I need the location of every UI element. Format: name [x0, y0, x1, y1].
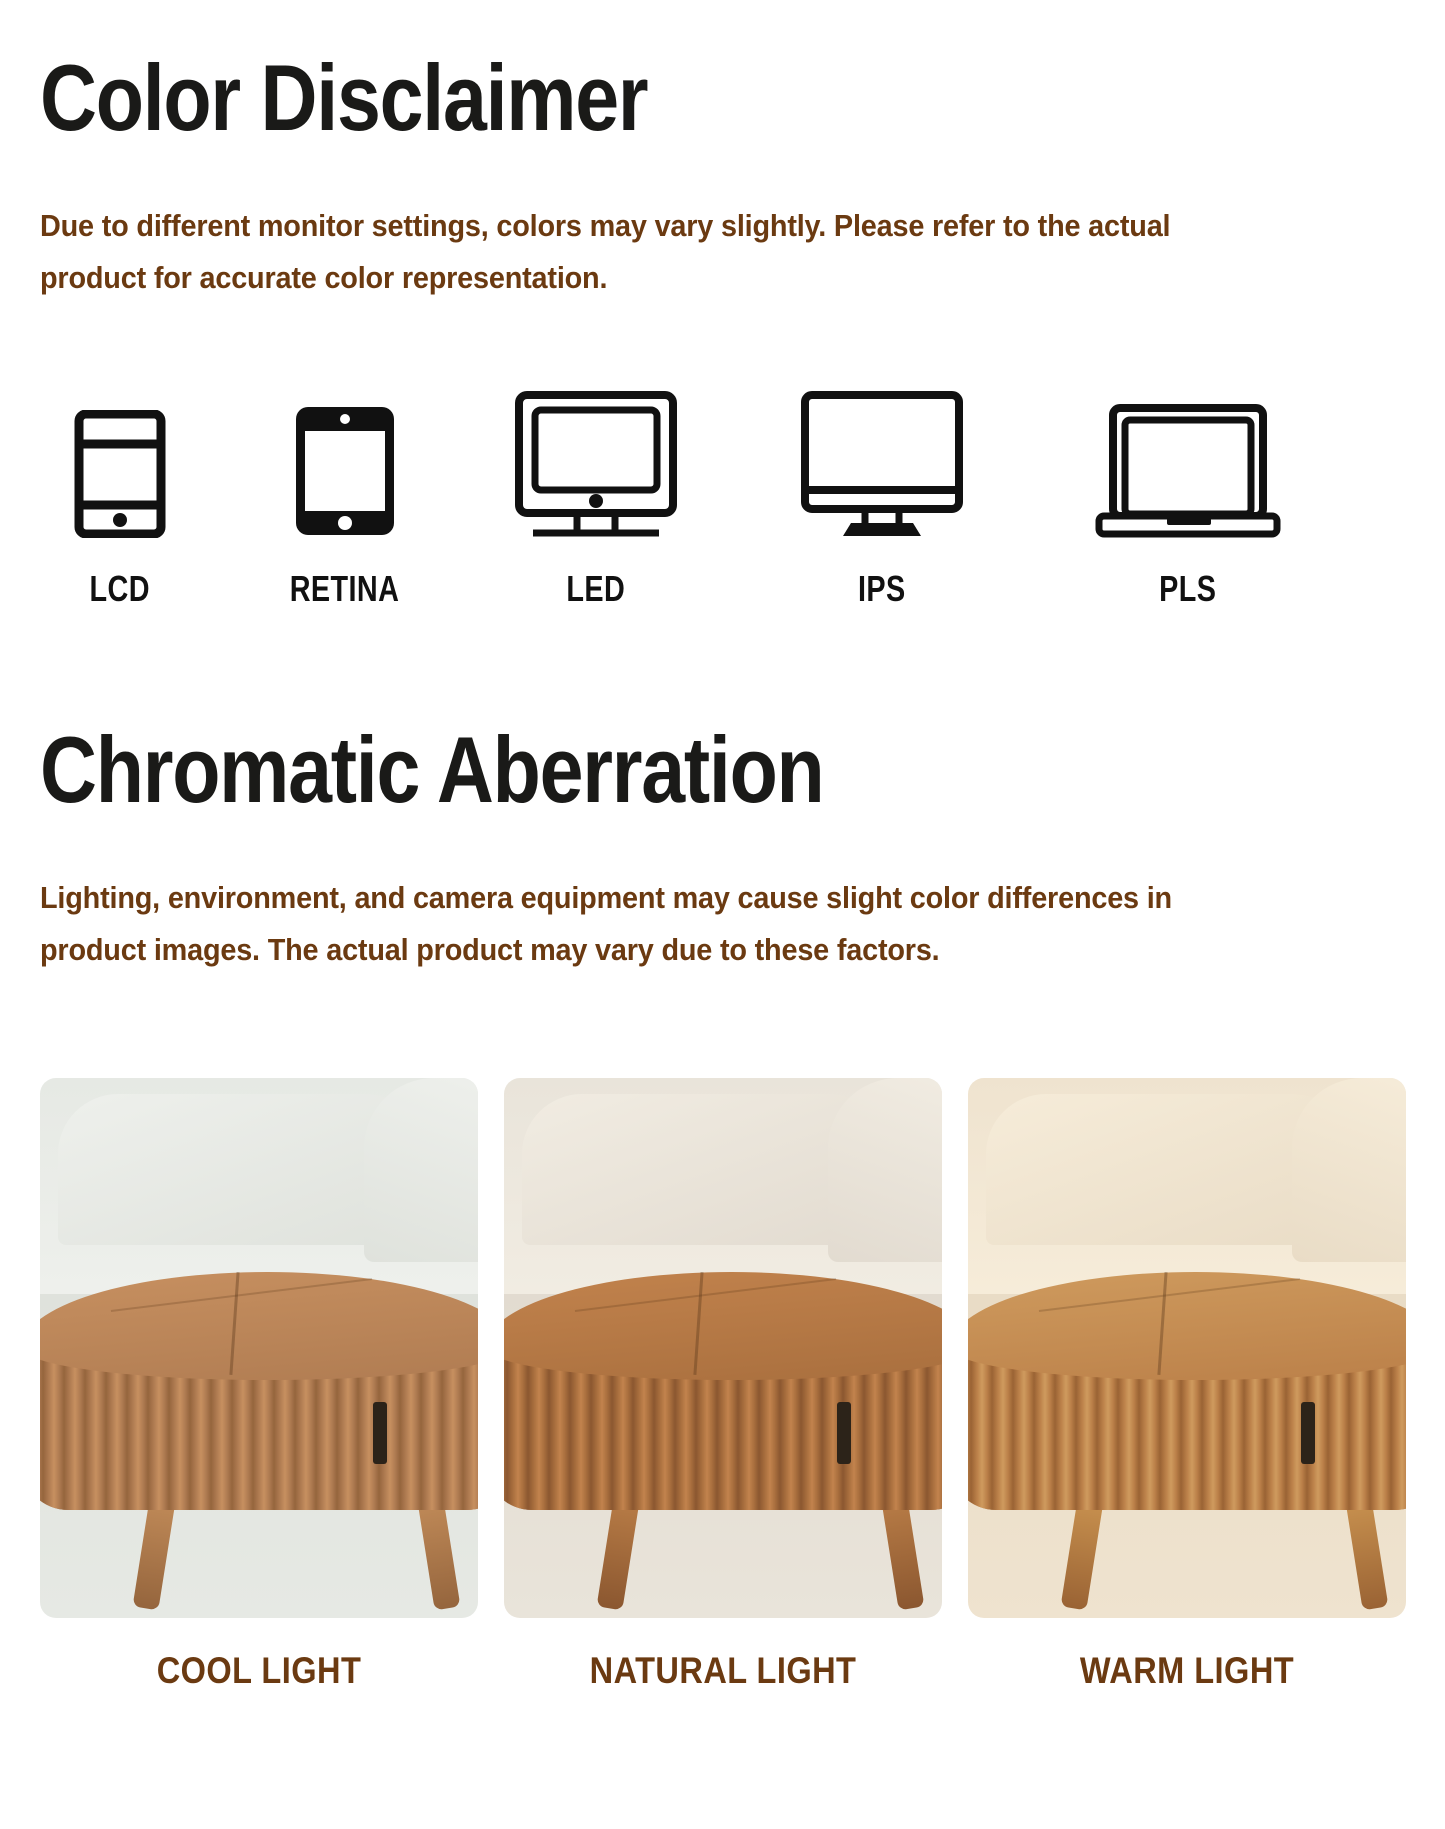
smartphone-outline-icon	[74, 388, 166, 538]
laptop-icon	[1095, 388, 1281, 538]
table-fluted-body	[968, 1359, 1406, 1510]
device-item-lcd: LCD	[74, 388, 166, 610]
device-label-retina: RETINA	[290, 568, 400, 610]
table-fluted-body	[40, 1359, 478, 1510]
lighting-card-cool: COOL LIGHT	[40, 1078, 478, 1692]
drawer-handle	[373, 1402, 387, 1464]
color-disclaimer-title: Color Disclaimer	[40, 48, 647, 148]
table-fluted-body	[504, 1359, 942, 1510]
scene	[40, 1078, 478, 1618]
lighting-card-warm: WARM LIGHT	[968, 1078, 1406, 1692]
device-label-lcd: LCD	[90, 568, 150, 610]
sofa-arm	[364, 1078, 478, 1262]
scene	[504, 1078, 942, 1618]
product-photo-cool-light	[40, 1078, 478, 1618]
lighting-label-natural: NATURAL LIGHT	[530, 1650, 915, 1692]
device-label-pls: PLS	[1159, 568, 1216, 610]
chromatic-aberration-title: Chromatic Aberration	[40, 720, 824, 820]
device-icon-strip: LCD RETINA	[40, 370, 1380, 610]
flute-texture	[968, 1359, 1406, 1510]
tablet-solid-icon	[292, 388, 398, 538]
monitor-stand-icon	[513, 388, 679, 538]
lighting-label-warm: WARM LIGHT	[994, 1650, 1379, 1692]
chromatic-aberration-body: Lighting, environment, and camera equipm…	[40, 872, 1277, 976]
drawer-handle	[1301, 1402, 1315, 1464]
scene	[968, 1078, 1406, 1618]
sofa-arm	[1292, 1078, 1406, 1262]
device-item-pls: PLS	[1095, 388, 1281, 610]
device-item-retina: RETINA	[276, 388, 413, 610]
flute-texture	[40, 1359, 478, 1510]
product-photo-warm-light	[968, 1078, 1406, 1618]
flute-texture	[504, 1359, 942, 1510]
monitor-chin-icon	[799, 388, 965, 538]
device-item-led: LED	[513, 388, 679, 610]
lighting-label-cool: COOL LIGHT	[66, 1650, 451, 1692]
color-disclaimer-body: Due to different monitor settings, color…	[40, 200, 1240, 304]
product-photo-natural-light	[504, 1078, 942, 1618]
device-label-led: LED	[567, 568, 626, 610]
device-item-ips: IPS	[799, 388, 965, 610]
lighting-card-natural: NATURAL LIGHT	[504, 1078, 942, 1692]
color-disclaimer-page: Color Disclaimer Due to different monito…	[0, 0, 1445, 1829]
device-label-ips: IPS	[858, 568, 906, 610]
sofa-arm	[828, 1078, 942, 1262]
drawer-handle	[837, 1402, 851, 1464]
lighting-sample-cards: COOL LIGHT	[40, 1078, 1410, 1692]
